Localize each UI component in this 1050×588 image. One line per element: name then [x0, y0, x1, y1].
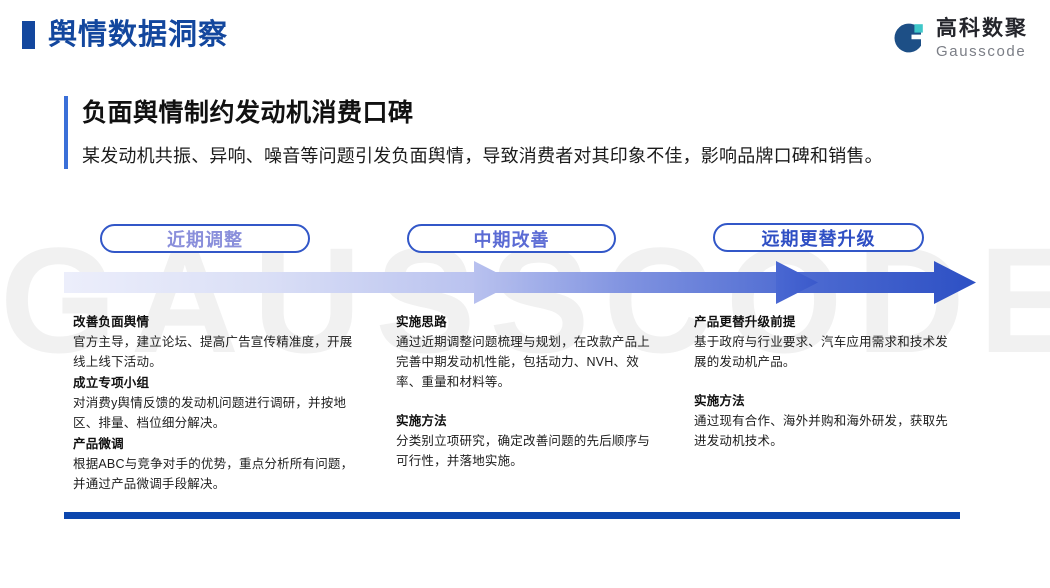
stage-pill-mid-term[interactable]: 中期改善	[407, 224, 616, 253]
block-spacer	[694, 373, 956, 391]
brand-logo: 高科数聚 Gausscode	[891, 16, 1028, 60]
block-title: 实施方法	[396, 411, 658, 431]
block-body: 基于政府与行业要求、汽车应用需求和技术发展的发动机产品。	[694, 332, 956, 372]
page-title: 舆情数据洞察	[48, 16, 228, 54]
block-title: 实施方法	[694, 391, 956, 411]
block-title: 实施思路	[396, 312, 658, 332]
block-body: 根据ABC与竞争对手的优势，重点分析所有问题，并通过产品微调手段解决。	[73, 454, 363, 494]
block-body: 官方主导，建立论坛、提高广告宣传精准度，开展线上线下活动。	[73, 332, 363, 372]
brand-name-en: Gausscode	[936, 44, 1028, 59]
block-title: 产品微调	[73, 434, 363, 454]
block-title: 成立专项小组	[73, 373, 363, 393]
gausscode-logo-mark-icon	[891, 20, 927, 56]
header-accent-marker	[22, 21, 35, 49]
headline-subtitle: 某发动机共振、异响、噪音等问题引发负面舆情，导致消费者对其印象不佳，影响品牌口碑…	[82, 143, 1004, 169]
headline-title: 负面舆情制约发动机消费口碑	[82, 96, 1004, 130]
block-title: 改善负面舆情	[73, 312, 363, 332]
block-spacer	[396, 393, 658, 411]
stage-pill-long-term[interactable]: 远期更替升级	[713, 223, 924, 252]
column-near-term: 改善负面舆情 官方主导，建立论坛、提高广告宣传精准度，开展线上线下活动。 成立专…	[73, 312, 363, 495]
block-body: 通过现有合作、海外并购和海外研发，获取先进发动机技术。	[694, 411, 956, 451]
block-body: 通过近期调整问题梳理与规划，在改款产品上完善中期发动机性能，包括动力、NVH、效…	[396, 332, 658, 392]
footer-accent-bar	[64, 512, 960, 519]
brand-logo-text: 高科数聚 Gausscode	[936, 18, 1028, 59]
timeline-arrow	[64, 260, 976, 305]
page-header: 舆情数据洞察 高科数聚 Gausscode	[0, 0, 1050, 72]
block-body: 对消费y舆情反馈的发动机问题进行调研，并按地区、排量、档位细分解决。	[73, 393, 363, 433]
block-title: 产品更替升级前提	[694, 312, 956, 332]
block-body: 分类别立项研究，确定改善问题的先后顺序与可行性，并落地实施。	[396, 431, 658, 471]
column-mid-term: 实施思路 通过近期调整问题梳理与规划，在改款产品上完善中期发动机性能，包括动力、…	[396, 312, 658, 472]
headline-block: 负面舆情制约发动机消费口碑 某发动机共振、异响、噪音等问题引发负面舆情，导致消费…	[64, 96, 1004, 169]
stage-pill-near-term[interactable]: 近期调整	[100, 224, 310, 253]
column-long-term: 产品更替升级前提 基于政府与行业要求、汽车应用需求和技术发展的发动机产品。 实施…	[694, 312, 956, 452]
brand-name-cn: 高科数聚	[936, 18, 1028, 39]
